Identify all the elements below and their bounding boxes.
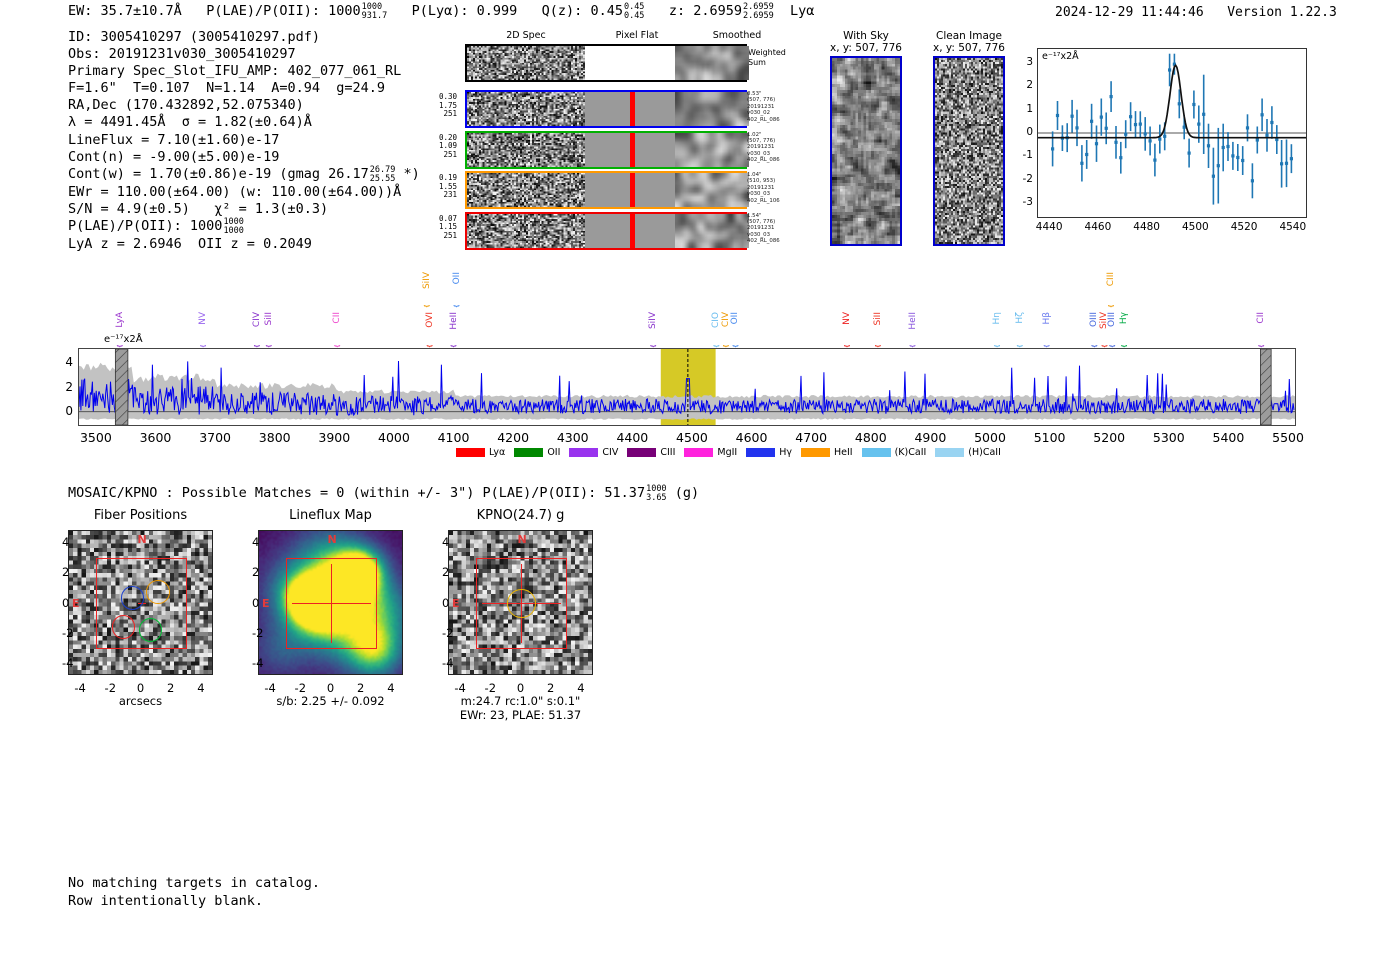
panel-xtick: 0: [327, 681, 334, 695]
emission-plot-xtick: 4460: [1085, 221, 1112, 233]
spec2d-row-meta-line: 402_RL_086: [747, 238, 791, 244]
cutout-pixels: [935, 58, 1003, 244]
spectrum-line-bracket: ⏟: [427, 336, 433, 347]
spec2d-montage: 2D Spec Pixel Flat Smoothed WeightedSum …: [425, 30, 785, 245]
spec2d-row: [465, 212, 747, 250]
spectrum-xtick: 5300: [1153, 430, 1185, 445]
spec2d-row: [465, 131, 747, 169]
spectrum-line-label: CIII: [1106, 272, 1116, 286]
spectrum-line-bracket: ⏟: [1258, 336, 1264, 347]
legend-item: OII: [514, 447, 560, 458]
full-spectrum-frame: [78, 348, 1296, 426]
spectrum-ytick: 0: [65, 404, 73, 418]
header-qz-label: Q(z): 0.45: [542, 3, 623, 19]
cutout-image: [830, 56, 902, 246]
spec2d-row-stats: 0.191.55231: [423, 174, 457, 200]
spec2d-smoothed-cell: [675, 92, 749, 126]
spectrum-line-label: SiIV: [422, 272, 432, 289]
legend-item: CIV: [569, 447, 618, 458]
version-label: Version 1.22.3: [1227, 5, 1337, 20]
panel-xtick: 2: [547, 681, 554, 695]
emission-plot-xtick: 4440: [1036, 221, 1063, 233]
spec2d-pixelflat-cell: [585, 214, 675, 248]
panel-xtick: 2: [357, 681, 364, 695]
legend-swatch: [935, 448, 964, 457]
spectrum-line-bracket: ⏟: [723, 336, 729, 347]
spectrum-line-bracket: ⏟: [650, 336, 656, 347]
spectrum-line-bracket: ⏟: [1101, 336, 1107, 347]
spectrum-line-label: OIII: [1089, 312, 1099, 327]
header-timestamp-version: 2024-12-29 11:44:46 Version 1.22.3: [1055, 5, 1337, 20]
spectrum-line-bracket: ⏟: [910, 336, 916, 347]
legend-label: MgII: [717, 447, 737, 458]
cutout-title: Clean Image: [909, 30, 1029, 42]
emission-plot-ytick: 0: [1026, 126, 1033, 138]
spec2d-row-stat: 251: [423, 110, 457, 119]
spectrum-line-bracket: ⏟: [334, 336, 340, 347]
legend-swatch: [746, 448, 775, 457]
legend-label: (H)CaII: [968, 447, 1001, 458]
spec2d-col-title-pixelflat: Pixel Flat: [587, 30, 687, 41]
spectrum-line-bracket: ⏟: [424, 296, 430, 307]
spec2d-row-meta: 1.04"(510, 953)20191231v030_03402_RL_106: [747, 172, 791, 204]
footer-line-2: Row intentionally blank.: [68, 893, 320, 911]
emission-plot-ytick: 3: [1026, 56, 1033, 68]
panel-xtick: 0: [137, 681, 144, 695]
spec2d-smoothed-cell: [675, 133, 749, 167]
spec2d-pixelflat-cell: [585, 173, 675, 207]
panel-caption-line: s/b: 2.25 +/- 0.092: [258, 694, 403, 708]
spec2d-wavelength-marker: [630, 92, 635, 126]
emission-plot-xtick: 4500: [1182, 221, 1209, 233]
legend-item: Lyα: [456, 447, 505, 458]
spectrum-line-bracket: ⏟: [200, 336, 206, 347]
header-plae-label: P(LAE)/P(OII): 1000: [206, 3, 360, 19]
legend-swatch: [684, 448, 713, 457]
spec2d-weighted-2dspec: [467, 46, 585, 80]
image-panel-canvas: NE: [258, 530, 403, 675]
spectrum-line-label: Hη: [992, 312, 1002, 324]
spec2d-row: [465, 90, 747, 128]
cutout-coords: x, y: 507, 776: [806, 42, 926, 54]
mosaic-prefix: MOSAIC/KPNO : Possible Matches = 0 (with…: [68, 485, 645, 501]
spec2d-row-meta-line: 402_RL_106: [747, 198, 791, 204]
panel-xtick: 4: [387, 681, 394, 695]
emission-line-plot-units: e⁻¹⁷x2Å: [1042, 51, 1079, 62]
spec2d-row-stats: 0.301.75251: [423, 93, 457, 119]
legend-swatch: [862, 448, 891, 457]
full-spectrum-plot: e⁻¹⁷x2Å 02435003600370038003900400041004…: [78, 348, 1296, 426]
aperture-circle: [507, 589, 536, 618]
header-plya: P(Lyα): 0.999: [412, 3, 518, 19]
spectrum-line-bracket: ⏟: [1121, 336, 1127, 347]
spectrum-line-label: OII: [730, 312, 740, 324]
panel-xtick: -4: [454, 681, 465, 695]
compass-east: E: [72, 597, 80, 610]
legend-swatch: [627, 448, 656, 457]
spectrum-line-label: Hγ: [1119, 312, 1129, 324]
info-plae: P(LAE)/P(OII): 100010001000: [68, 218, 420, 236]
legend-item: (K)CaII: [862, 447, 927, 458]
spec2d-2dspec-cell: [467, 173, 585, 207]
spectrum-xtick: 4700: [795, 430, 827, 445]
spec2d-col-title-smoothed: Smoothed: [687, 30, 787, 41]
spectrum-xtick: 4900: [914, 430, 946, 445]
spectrum-line-label: CIO: [711, 312, 721, 328]
spectrum-line-label: OIII: [1107, 312, 1117, 327]
panel-xtick: 4: [577, 681, 584, 695]
header-ew: EW: 35.7±10.7Å: [68, 3, 182, 19]
mosaic-kpno-line: MOSAIC/KPNO : Possible Matches = 0 (with…: [68, 485, 699, 503]
info-ewr: EWr = 110.00(±64.00) (w: 110.00(±64.00))…: [68, 184, 420, 201]
spectrum-line-label: LyA: [115, 312, 125, 328]
spec2d-wavelength-marker: [630, 214, 635, 248]
info-sn-chi2: S/N = 4.9(±0.5) χ² = 1.3(±0.3): [68, 201, 420, 218]
spectrum-line-bracket: ⏟: [994, 336, 1000, 347]
info-lineflux: LineFlux = 7.10(±1.60)e-17: [68, 132, 420, 149]
legend-item: MgII: [684, 447, 737, 458]
emission-line-plot: e⁻¹⁷x2Å -3-2-101234440446044804500452045…: [1037, 48, 1307, 218]
panel-xtick: 4: [197, 681, 204, 695]
fiber-circle-red: [112, 615, 136, 639]
image-panel-title: Lineflux Map: [258, 508, 403, 523]
info-radec: RA,Dec (170.432892,52.075340): [68, 97, 420, 114]
crosshair-vertical: [331, 564, 332, 643]
info-id: ID: 3005410297 (3005410297.pdf): [68, 29, 420, 46]
spec2d-2dspec-cell: [467, 92, 585, 126]
spectrum-xtick: 3500: [80, 430, 112, 445]
spectrum-xtick: 4600: [736, 430, 768, 445]
legend-item: (H)CaII: [935, 447, 1001, 458]
compass-north: N: [518, 533, 527, 546]
spec2d-wavelength-marker: [630, 173, 635, 207]
legend-label: Lyα: [489, 447, 505, 458]
spectrum-xtick: 5500: [1272, 430, 1304, 445]
panel-xtick: 0: [517, 681, 524, 695]
legend-label: Hγ: [779, 447, 792, 458]
image-panel-title: KPNO(24.7) g: [448, 508, 593, 523]
info-cont-n: Cont(n) = -9.00(±5.00)e-19: [68, 149, 420, 166]
full-spectrum-units: e⁻¹⁷x2Å: [104, 334, 143, 345]
spectrum-xtick: 3700: [199, 430, 231, 445]
legend-item: Hγ: [746, 447, 792, 458]
spectrum-line-label: HeII: [908, 312, 918, 330]
spectrum-line-bracket: ⏟: [451, 336, 457, 347]
legend-label: CIV: [602, 447, 618, 458]
spectrum-ytick: 4: [65, 355, 73, 369]
cutout-image: [933, 56, 1005, 246]
cutout-coords: x, y: 507, 776: [909, 42, 1029, 54]
spectrum-line-label: SiII: [264, 312, 274, 326]
emission-line-plot-frame: [1037, 48, 1307, 218]
spectrum-line-bracket: ⏟: [454, 296, 460, 307]
spec2d-smoothed-cell: [675, 214, 749, 248]
cutout-title-block: Clean Imagex, y: 507, 776: [909, 30, 1029, 54]
panel-xtick: -4: [264, 681, 275, 695]
spectrum-xtick: 5000: [974, 430, 1006, 445]
header-plae-fraction: 1000931.7: [362, 3, 388, 21]
spec2d-weighted-sum-label: WeightedSum: [748, 48, 786, 67]
spectrum-xtick: 4300: [557, 430, 589, 445]
spectrum-line-bracket: ⏟: [254, 336, 260, 347]
spec2d-row-stat: 231: [423, 191, 457, 200]
panel-caption-line: m:24.7 rc:1.0" s:0.1": [448, 694, 593, 708]
spectrum-legend: LyαOIICIVCIIIMgIIHγHeII(K)CaII(H)CaII: [456, 447, 1001, 458]
emission-plot-ytick: -3: [1023, 196, 1033, 208]
legend-swatch: [456, 448, 485, 457]
spec2d-row-meta: 0.53"(507, 776)20191231v030_02402_RL_086: [747, 91, 791, 123]
info-redshifts: LyA z = 2.6946 OII z = 0.2049: [68, 236, 420, 253]
fiber-circle-blue: [121, 586, 145, 610]
spectrum-ytick: 2: [65, 380, 73, 394]
panel-xtick: -4: [74, 681, 85, 695]
header-z-type: Lyα: [790, 3, 814, 19]
spectrum-xtick: 3900: [318, 430, 350, 445]
spec2d-row-stats: 0.201.09251: [423, 134, 457, 160]
spectrum-line-bracket: ⏟: [713, 336, 719, 347]
mosaic-suffix: (g): [675, 485, 699, 501]
spec2d-pixelflat-cell: [585, 92, 675, 126]
spectrum-line-bracket: ⏟: [1044, 336, 1050, 347]
spec2d-row-meta: 1.54"(507, 776)20191231v030_03402_RL_086: [747, 213, 791, 245]
panel-xtick: -2: [295, 681, 306, 695]
spec2d-2dspec-cell: [467, 214, 585, 248]
spectrum-xtick: 5400: [1213, 430, 1245, 445]
spectrum-xtick: 5100: [1034, 430, 1066, 445]
emission-plot-ytick: 2: [1026, 79, 1033, 91]
spec2d-row-stat: 251: [423, 232, 457, 241]
spec2d-row: [465, 171, 747, 209]
emission-line-plot-svg: [1038, 49, 1306, 217]
fiber-circle-green: [139, 618, 163, 642]
emission-plot-ytick: -1: [1023, 149, 1033, 161]
legend-item: CIII: [627, 447, 675, 458]
timestamp: 2024-12-29 11:44:46: [1055, 5, 1204, 20]
info-primary-spec: Primary Spec_Slot_IFU_AMP: 402_077_061_R…: [68, 63, 420, 80]
spectrum-line-bracket: ⏟: [1109, 336, 1115, 347]
header-summary-line: EW: 35.7±10.7Å P(LAE)/P(OII): 1000100093…: [68, 3, 814, 21]
spectrum-line-label: Hζ: [1015, 312, 1025, 324]
header-qz-fraction: 0.450.45: [624, 3, 644, 21]
spec2d-col-title-2dspec: 2D Spec: [465, 30, 587, 41]
panel-caption-line: EWr: 23, PLAE: 51.37: [448, 708, 593, 722]
emission-plot-ytick: 1: [1026, 103, 1033, 115]
panel-xtick: 2: [167, 681, 174, 695]
legend-swatch: [514, 448, 543, 457]
image-panel-canvas: NE: [68, 530, 213, 675]
compass-north: N: [328, 533, 337, 546]
legend-label: HeII: [834, 447, 853, 458]
spectrum-line-label: SiII: [873, 312, 883, 326]
legend-swatch: [801, 448, 830, 457]
spec2d-weighted-sum-row: [465, 44, 747, 82]
spectrum-line-label: CII: [332, 312, 342, 324]
spectrum-xtick: 4500: [676, 430, 708, 445]
object-info-block: ID: 3005410297 (3005410297.pdf) Obs: 201…: [68, 29, 420, 253]
spectrum-line-label: HeII: [449, 312, 459, 330]
footer-note: No matching targets in catalog. Row inte…: [68, 875, 320, 910]
spectrum-xtick: 4400: [616, 430, 648, 445]
spectrum-xtick: 4000: [378, 430, 410, 445]
spec2d-row-meta-line: 402_RL_086: [747, 117, 791, 123]
info-fwhm-throughput: F=1.6" T=0.107 N=1.14 A=0.94 g=24.9: [68, 80, 420, 97]
spectrum-line-bracket: ⏟: [1108, 296, 1114, 307]
spectrum-xtick: 3600: [140, 430, 172, 445]
emission-plot-xtick: 4540: [1279, 221, 1306, 233]
panel-caption: m:24.7 rc:1.0" s:0.1"EWr: 23, PLAE: 51.3…: [448, 694, 593, 722]
spec2d-weighted-smoothed: [675, 46, 749, 80]
spec2d-row-stats: 0.071.15251: [423, 215, 457, 241]
info-cont-w: Cont(w) = 1.70(±0.86)e-19 (gmag 26.1726.…: [68, 166, 420, 184]
legend-label: (K)CaII: [895, 447, 927, 458]
panel-xtick: -2: [105, 681, 116, 695]
emission-plot-xtick: 4480: [1133, 221, 1160, 233]
legend-swatch: [569, 448, 598, 457]
spectrum-line-label: OVI: [425, 312, 435, 328]
image-panel-canvas: NE: [448, 530, 593, 675]
spectrum-line-label: SiIV: [648, 312, 658, 329]
spec2d-row-meta: 1.02"(507, 776)20191231v030_03402_RL_086: [747, 132, 791, 164]
image-panel-title: Fiber Positions: [68, 508, 213, 523]
spec2d-smoothed-cell: [675, 173, 749, 207]
spectrum-xtick: 3800: [259, 430, 291, 445]
spectrum-line-bracket: ⏟: [875, 336, 881, 347]
spectrum-line-bracket: ⏟: [266, 336, 272, 347]
spectrum-line-label: NV: [198, 312, 208, 325]
panel-xtick: -2: [485, 681, 496, 695]
legend-item: HeII: [801, 447, 853, 458]
emission-plot-ytick: -2: [1023, 173, 1033, 185]
cutout-title: With Sky: [806, 30, 926, 42]
spectrum-xtick: 5200: [1093, 430, 1125, 445]
cutout-title-block: With Skyx, y: 507, 776: [806, 30, 926, 54]
spectrum-line-bracket: ⏟: [1091, 336, 1097, 347]
fiber-circle-orange: [146, 580, 170, 604]
spectrum-line-label: Hβ: [1042, 312, 1052, 325]
compass-north: N: [138, 533, 147, 546]
spec2d-pixelflat-cell: [585, 133, 675, 167]
emission-plot-xtick: 4520: [1231, 221, 1258, 233]
footer-line-1: No matching targets in catalog.: [68, 875, 320, 893]
header-z-fraction: 2.69592.6959: [743, 3, 774, 21]
spectrum-line-bracket: ⏟: [732, 336, 738, 347]
spectrum-xtick: 4800: [855, 430, 887, 445]
info-obs: Obs: 20191231v030_3005410297: [68, 46, 420, 63]
spec2d-row-meta-line: 402_RL_086: [747, 157, 791, 163]
cutout-pixels: [832, 58, 900, 244]
spectrum-line-bracket: ⏟: [844, 336, 850, 347]
compass-east: E: [452, 597, 460, 610]
legend-label: CIII: [660, 447, 675, 458]
spec2d-2dspec-cell: [467, 133, 585, 167]
info-wavelength-sigma: λ = 4491.45Å σ = 1.82(±0.64)Å: [68, 114, 420, 131]
spectrum-line-bracket: ⏟: [1017, 336, 1023, 347]
compass-east: E: [262, 597, 270, 610]
panel-xlabel: arcsecs: [68, 694, 213, 708]
legend-label: OII: [547, 447, 560, 458]
spectrum-line-label: CIV: [252, 312, 262, 327]
spectrum-xtick: 4100: [438, 430, 470, 445]
header-z-label: z: 2.6959: [669, 3, 742, 19]
spectrum-line-label: CII: [1256, 312, 1266, 324]
mosaic-fraction: 10003.65: [646, 485, 666, 503]
panel-caption: arcsecs: [68, 694, 213, 708]
spec2d-row-stat: 251: [423, 151, 457, 160]
spectrum-line-label: OII: [452, 272, 462, 284]
full-spectrum-svg: [79, 349, 1295, 425]
spectrum-line-label: NV: [842, 312, 852, 325]
spectrum-xtick: 4200: [497, 430, 529, 445]
panel-caption: s/b: 2.25 +/- 0.092: [258, 694, 403, 708]
spec2d-wavelength-marker: [630, 133, 635, 167]
